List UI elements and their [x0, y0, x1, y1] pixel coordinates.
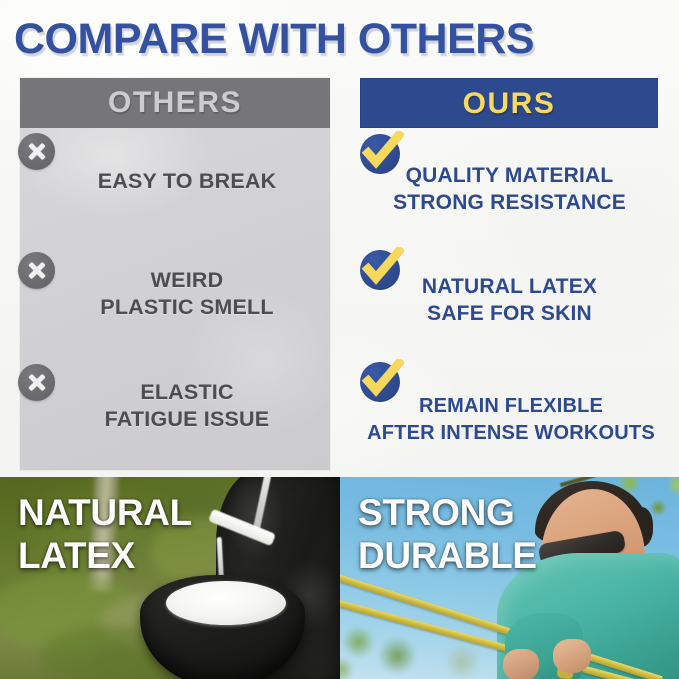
- page-title: COMPARE WITH OTHERS: [14, 14, 669, 64]
- photo-strong-durable: STRONG DURABLE: [340, 477, 679, 679]
- x-circle-icon: [18, 364, 55, 401]
- others-item-label: ELASTIC FATIGUE ISSUE: [56, 379, 318, 433]
- ours-item-label: QUALITY MATERIAL STRONG RESISTANCE: [360, 162, 659, 216]
- others-item-line1: ELASTIC: [56, 379, 318, 406]
- ours-item-line2: SAFE FOR SKIN: [360, 300, 659, 327]
- others-item-line2: PLASTIC SMELL: [56, 294, 318, 321]
- x-circle-icon: [18, 133, 55, 170]
- ours-item-line1: QUALITY MATERIAL: [360, 162, 659, 189]
- ours-column-header: OURS: [360, 78, 658, 128]
- others-column-header: OTHERS: [20, 78, 330, 128]
- others-item-line1: EASY TO BREAK: [98, 169, 277, 193]
- others-item-line1: WEIRD: [56, 267, 318, 294]
- ours-item-line2: AFTER INTENSE WORKOUTS: [352, 420, 670, 447]
- photo-right-caption-line2: DURABLE: [358, 534, 537, 577]
- ours-item-line1: REMAIN FLEXIBLE: [352, 393, 670, 420]
- photo-right-caption-line1: STRONG: [358, 491, 537, 534]
- infographic-canvas: COMPARE WITH OTHERS OTHERS EASY TO BREAK…: [0, 0, 679, 679]
- ours-item-label: REMAIN FLEXIBLE AFTER INTENSE WORKOUTS: [352, 393, 670, 447]
- photo-left-caption-line2: LATEX: [18, 534, 192, 577]
- ours-item-label: NATURAL LATEX SAFE FOR SKIN: [360, 273, 659, 327]
- others-item-label: WEIRD PLASTIC SMELL: [56, 267, 318, 321]
- others-item-label: EASY TO BREAK: [56, 168, 318, 195]
- photo-left-caption-line1: NATURAL: [18, 491, 192, 534]
- photo-natural-latex: NATURAL LATEX: [0, 477, 340, 679]
- ours-item-line1: NATURAL LATEX: [360, 273, 659, 300]
- photo-left-caption: NATURAL LATEX: [18, 491, 192, 577]
- photo-right-caption: STRONG DURABLE: [358, 491, 537, 577]
- photo-strip: NATURAL LATEX: [0, 477, 679, 679]
- x-circle-icon: [18, 252, 55, 289]
- ours-item-line2: STRONG RESISTANCE: [360, 189, 659, 216]
- others-item-line2: FATIGUE ISSUE: [56, 406, 318, 433]
